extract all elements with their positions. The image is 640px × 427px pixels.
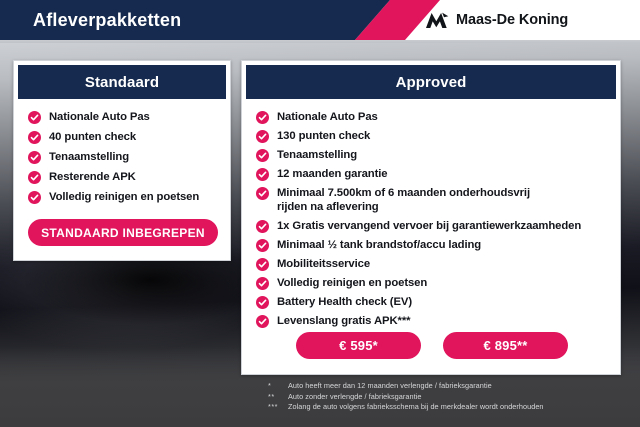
- list-item: Nationale Auto Pas: [28, 110, 216, 124]
- footnotes-block: * Auto heeft meer dan 12 maanden verleng…: [268, 381, 544, 413]
- footnote-marker: ***: [268, 402, 288, 413]
- check-circle-icon: [256, 187, 269, 200]
- footnote-marker: **: [268, 392, 288, 403]
- list-item: Resterende APK: [28, 170, 216, 184]
- check-circle-icon: [256, 149, 269, 162]
- price-button-595[interactable]: € 595*: [296, 332, 421, 359]
- header-divider: [0, 40, 640, 43]
- standaard-card-header: Standaard: [18, 65, 226, 99]
- check-circle-icon: [256, 239, 269, 252]
- check-circle-icon: [256, 168, 269, 181]
- feature-label: Tenaamstelling: [49, 150, 129, 164]
- feature-label: 12 maanden garantie: [277, 167, 387, 181]
- footnote-text: Auto zonder verlengde / fabrieksgarantie: [288, 392, 421, 403]
- feature-label: Minimaal 7.500km of 6 maanden onderhouds…: [277, 186, 530, 214]
- approved-card-title: Approved: [396, 74, 467, 91]
- check-circle-icon: [28, 191, 41, 204]
- feature-label: 130 punten check: [277, 129, 370, 143]
- footnote-text: Auto heeft meer dan 12 maanden verlengde…: [288, 381, 492, 392]
- footnote-single-asterisk: * Auto heeft meer dan 12 maanden verleng…: [268, 381, 544, 392]
- check-circle-icon: [256, 296, 269, 309]
- check-circle-icon: [256, 111, 269, 124]
- check-circle-icon: [256, 258, 269, 271]
- check-circle-icon: [28, 111, 41, 124]
- maas-de-koning-logo-icon: [425, 12, 449, 29]
- feature-label: Volledig reinigen en poetsen: [49, 190, 199, 204]
- feature-label: Tenaamstelling: [277, 148, 357, 162]
- feature-label: Volledig reinigen en poetsen: [277, 276, 427, 290]
- list-item: Battery Health check (EV): [256, 295, 606, 309]
- feature-label: Mobiliteitsservice: [277, 257, 370, 271]
- list-item: Minimaal 7.500km of 6 maanden onderhouds…: [256, 186, 606, 214]
- check-circle-icon: [28, 171, 41, 184]
- approved-package-card: Approved Nationale Auto Pas 130 punten c…: [241, 60, 621, 375]
- list-item: Minimaal ½ tank brandstof/accu lading: [256, 238, 606, 252]
- check-circle-icon: [28, 151, 41, 164]
- list-item: Tenaamstelling: [256, 148, 606, 162]
- feature-label: Minimaal ½ tank brandstof/accu lading: [277, 238, 481, 252]
- approved-card-header: Approved: [246, 65, 616, 99]
- feature-label: Nationale Auto Pas: [277, 110, 378, 124]
- brand-name: Maas-De Koning: [456, 12, 568, 28]
- feature-label: Nationale Auto Pas: [49, 110, 150, 124]
- standaard-card-title: Standaard: [85, 74, 159, 91]
- standaard-package-card: Standaard Nationale Auto Pas 40 punten c…: [13, 60, 231, 261]
- footnote-marker: *: [268, 381, 288, 392]
- feature-label: Battery Health check (EV): [277, 295, 412, 309]
- feature-label: Resterende APK: [49, 170, 136, 184]
- check-circle-icon: [256, 277, 269, 290]
- feature-label-line2: rijden na aflevering: [277, 200, 530, 214]
- feature-label: Levenslang gratis APK***: [277, 314, 410, 328]
- list-item: Volledig reinigen en poetsen: [28, 190, 216, 204]
- list-item: Nationale Auto Pas: [256, 110, 606, 124]
- check-circle-icon: [256, 315, 269, 328]
- list-item: Mobiliteitsservice: [256, 257, 606, 271]
- feature-label-line1: Minimaal 7.500km of 6 maanden onderhouds…: [277, 187, 530, 199]
- price-button-895[interactable]: € 895**: [443, 332, 568, 359]
- list-item: 12 maanden garantie: [256, 167, 606, 181]
- footnote-text: Zolang de auto volgens fabrieksschema bi…: [288, 402, 544, 413]
- check-circle-icon: [256, 130, 269, 143]
- feature-label: 40 punten check: [49, 130, 136, 144]
- standaard-feature-list: Nationale Auto Pas 40 punten check Tenaa…: [28, 99, 216, 204]
- check-circle-icon: [256, 220, 269, 233]
- footnote-double-asterisk: ** Auto zonder verlengde / fabrieksgaran…: [268, 392, 544, 403]
- feature-label: 1x Gratis vervangend vervoer bij garanti…: [277, 219, 581, 233]
- list-item: 130 punten check: [256, 129, 606, 143]
- price-button-row: € 595* € 895**: [242, 332, 622, 359]
- list-item: 40 punten check: [28, 130, 216, 144]
- page-header: Afleverpakketten Maas-De Koning: [0, 0, 640, 40]
- page-title: Afleverpakketten: [33, 0, 181, 40]
- standaard-inbegrepen-button[interactable]: STANDAARD INBEGREPEN: [28, 219, 218, 246]
- list-item: Tenaamstelling: [28, 150, 216, 164]
- approved-feature-list: Nationale Auto Pas 130 punten check Tena…: [256, 99, 606, 328]
- brand-lockup: Maas-De Koning: [425, 0, 568, 40]
- list-item: Volledig reinigen en poetsen: [256, 276, 606, 290]
- promo-slide: Afleverpakketten Maas-De Koning Standaar…: [0, 0, 640, 427]
- check-circle-icon: [28, 131, 41, 144]
- list-item: 1x Gratis vervangend vervoer bij garanti…: [256, 219, 606, 233]
- list-item: Levenslang gratis APK***: [256, 314, 606, 328]
- footnote-triple-asterisk: *** Zolang de auto volgens fabrieksschem…: [268, 402, 544, 413]
